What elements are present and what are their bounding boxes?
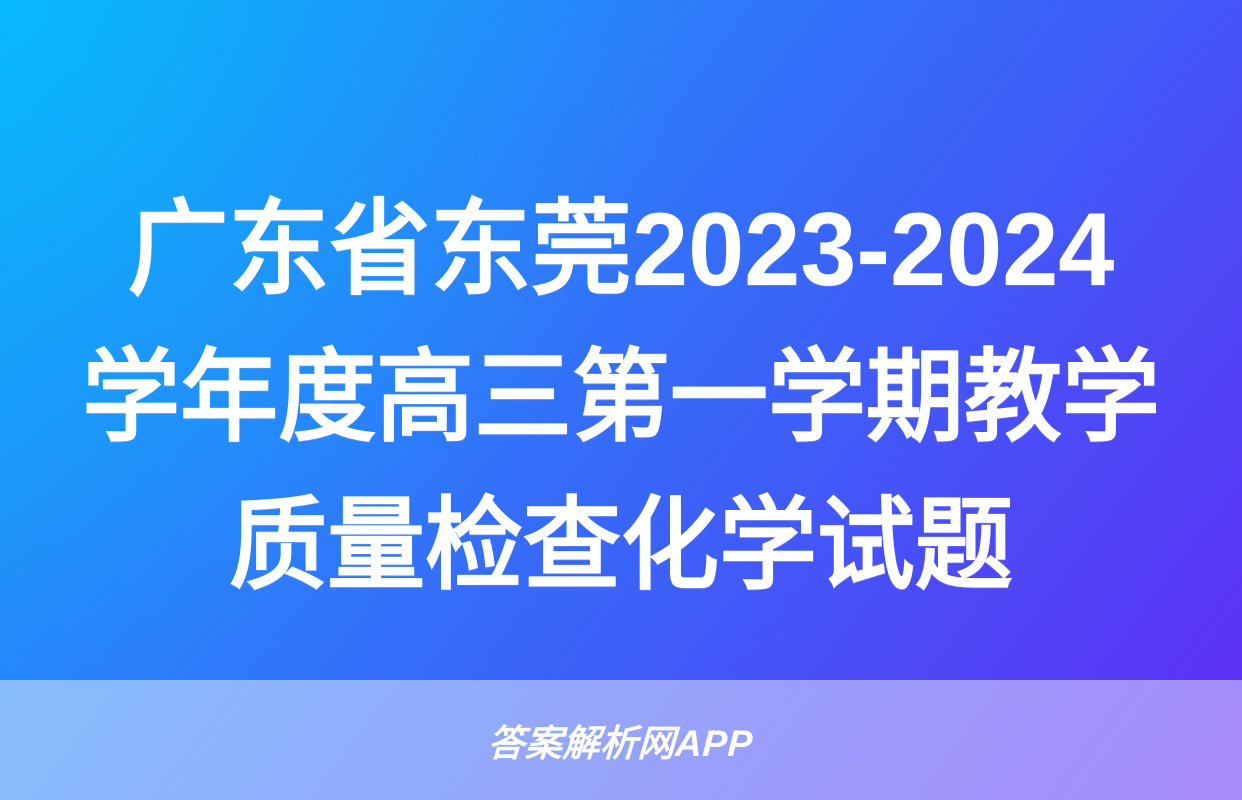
title-line-1: 广东省东莞2023-2024 — [19, 176, 1224, 324]
poster-canvas: 广东省东莞2023-2024 学年度高三第一学期教学 质量检查化学试题 答案解析… — [0, 0, 1242, 800]
watermark-brand-label: 答案解析网APP — [487, 713, 755, 767]
title-line-2: 学年度高三第一学期教学 — [19, 324, 1224, 472]
poster-title: 广东省东莞2023-2024 学年度高三第一学期教学 质量检查化学试题 — [0, 176, 1242, 620]
title-line-3: 质量检查化学试题 — [19, 472, 1224, 620]
watermark-band: 答案解析网APP — [0, 680, 1242, 800]
